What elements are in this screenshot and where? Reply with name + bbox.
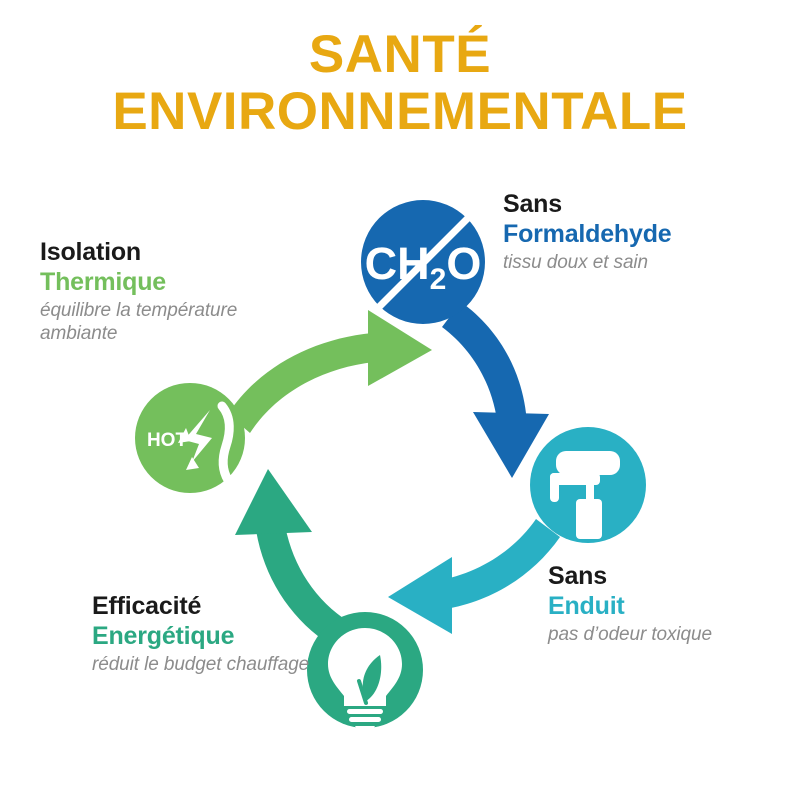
arrow-cyan-to-efficacite bbox=[388, 519, 560, 634]
callout-enduit-line1: Sans bbox=[548, 562, 798, 592]
node-enduit[interactable] bbox=[530, 427, 646, 543]
callout-isolation: Isolation Thermique équilibre la tempéra… bbox=[40, 238, 310, 345]
callout-efficacite: Efficacité Energétique réduit le budget … bbox=[92, 592, 322, 676]
callout-efficacite-line1: Efficacité bbox=[92, 592, 322, 622]
callout-enduit-line2: Enduit bbox=[548, 592, 798, 622]
ch2o-tail: O bbox=[446, 238, 481, 289]
callout-isolation-line1: Isolation bbox=[40, 238, 310, 268]
callout-efficacite-line2: Energétique bbox=[92, 622, 322, 652]
node-formaldehyde[interactable]: CH2O bbox=[361, 200, 485, 324]
callout-enduit: Sans Enduit pas d’odeur toxique bbox=[548, 562, 798, 646]
node-isolation[interactable]: HOT bbox=[135, 383, 245, 493]
callout-enduit-caption: pas d’odeur toxique bbox=[548, 623, 798, 646]
ch2o-subscript: 2 bbox=[430, 263, 447, 296]
callout-isolation-caption: équilibre la température ambiante bbox=[40, 299, 310, 345]
callout-formaldehyde: Sans Formaldehyde tissu doux et sain bbox=[503, 190, 793, 274]
cycle-diagram: CH2O bbox=[0, 0, 800, 800]
callout-isolation-line2: Thermique bbox=[40, 268, 310, 298]
callout-formaldehyde-line1: Sans bbox=[503, 190, 793, 220]
arrow-blue-to-enduit bbox=[442, 302, 549, 478]
callout-efficacite-caption: réduit le budget chauffage bbox=[92, 653, 322, 676]
node-efficacite[interactable] bbox=[307, 612, 423, 732]
callout-formaldehyde-caption: tissu doux et sain bbox=[503, 251, 793, 274]
callout-formaldehyde-line2: Formaldehyde bbox=[503, 220, 793, 250]
infographic-canvas: SANTÉ ENVIRONNEMENTALE bbox=[0, 0, 800, 800]
